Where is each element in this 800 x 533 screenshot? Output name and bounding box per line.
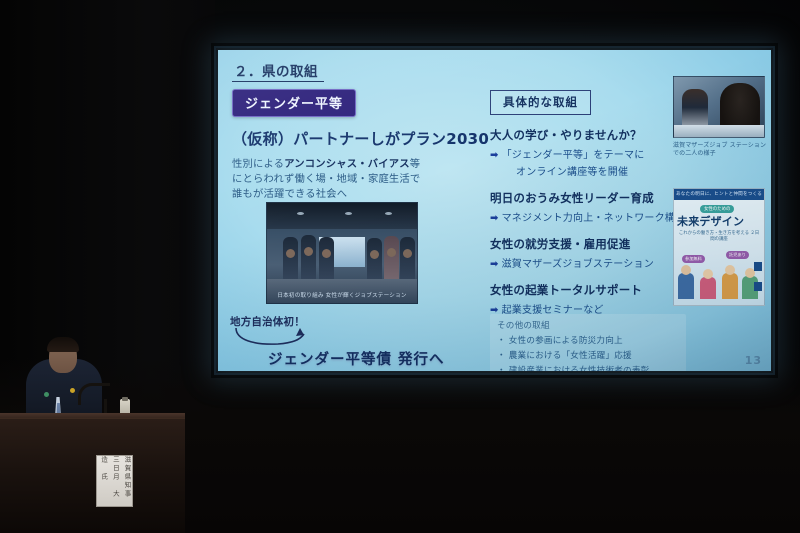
photo-ceiling-light [297,212,304,215]
photo-person-head [387,248,396,257]
measure-title: 大人の学び・やりませんか？ [490,127,690,143]
plan-desc-line-2: にとらわれず働く場・地域・家庭生活で [232,172,484,187]
auditorium-stage: ２．県の取組 ジェンダー平等 （仮称）パートナーしがプラン2030 性別によるア… [0,0,800,533]
right-photo-caption: 滋賀マザーズジョブ ステーションでの二人の様子 [673,142,769,158]
measure-detail-text: 「ジェンダー平等」をテーマに [502,150,645,161]
poster-side-bar [754,262,762,271]
measure-item: 明日のおうみ女性リーダー育成 ➡マネジメント力向上・ネットワーク構築 [490,190,690,224]
measure-title: 女性の就労支援・雇用促進 [490,236,690,252]
measure-item: 女性の起業トータルサポート ➡起業支援セミナーなど [490,282,690,316]
arrow-icon: ➡ [490,259,499,270]
photo-person [319,237,334,281]
poster-chip: 託児あり [726,251,749,259]
other-measure-item: ・ 建設産業における女性技術者の表彰 [497,364,679,371]
measures-heading: 具体的な取組 [490,90,591,115]
measure-title: 明日のおうみ女性リーダー育成 [490,190,690,206]
poster-figure [722,273,738,299]
curved-arrow-icon [234,326,320,348]
mirai-design-poster: あなたの明日に、ヒントと仲間をつくるセミナー 女性のための 未来デザイン これか… [673,188,765,306]
poster-figure-head [681,265,691,275]
poster-figure [700,277,716,299]
group-photo: 日本初の取り組み 女性が輝くジョブステーション [266,202,418,304]
poster-figure-head [703,269,713,279]
photo-person-head [286,249,295,258]
photo-person-head [403,249,412,258]
photo-counter [674,125,764,137]
measure-detail: ➡滋賀マザーズジョブステーション [490,255,690,270]
podium [0,418,185,533]
other-measures-box: その他の取組 ・ 女性の参画による防災力向上 ・ 農業における「女性活躍」応援 … [490,314,686,371]
poster-title: 未来デザイン [677,213,761,229]
lapel-pin-icon [70,388,75,393]
nameplate-text: 滋賀県知事 三日月 大造 氏 [97,456,132,506]
presentation-slide: ２．県の取組 ジェンダー平等 （仮称）パートナーしがプラン2030 性別によるア… [218,50,771,371]
slide-page-number: 13 [745,354,762,367]
measure-detail: ➡「ジェンダー平等」をテーマに [490,146,690,161]
arrow-icon: ➡ [490,213,499,224]
photo-person [301,235,316,281]
measure-item: 大人の学び・やりませんか？ ➡「ジェンダー平等」をテーマに オンライン講座等を開… [490,127,690,178]
arrow-icon: ➡ [490,150,499,161]
photo-person-head [370,250,379,259]
photo-caption: 日本初の取り組み 女性が輝くジョブステーション [273,293,411,300]
measure-title: 女性の起業トータルサポート [490,282,690,298]
section-title: ２．県の取組 [232,60,324,82]
photo-person [400,237,415,281]
plan-desc-line-1: 性別によるアンコンシャス・バイアス等 [232,157,484,172]
poster-badge: 女性のための [700,205,734,213]
plan-desc-line-3: 誰もが活躍できる社会へ [232,187,484,202]
mothers-job-station-photo [673,76,765,138]
plan-description: 性別によるアンコンシャス・バイアス等 にとらわれず働く場・地域・家庭生活で 誰も… [232,157,484,202]
poster-figure [678,273,694,299]
photo-person [283,237,298,281]
slide-measures-column: 具体的な取組 大人の学び・やりませんか？ ➡「ジェンダー平等」をテーマに オンラ… [490,90,690,316]
other-measure-item: ・ 農業における「女性活躍」応援 [497,349,679,361]
measure-detail: ➡マネジメント力向上・ネットワーク構築 [490,209,690,224]
poster-chip: 参加無料 [682,255,705,263]
photo-ceiling-light [345,212,352,215]
photo-person [384,236,399,281]
speaker-hair [47,337,79,352]
photo-ceiling [267,203,417,229]
other-measure-item: ・ 女性の参画による防災力向上 [497,334,679,346]
other-measures-heading: その他の取組 [497,319,679,331]
photo-person-head [322,249,331,258]
topic-tag-badge: ジェンダー平等 [232,89,356,117]
poster-side-bar [754,282,762,291]
poster-figure-head [725,265,735,275]
projection-screen: ２．県の取組 ジェンダー平等 （仮称）パートナーしがプラン2030 性別によるア… [218,50,771,371]
measure-item: 女性の就労支援・雇用促進 ➡滋賀マザーズジョブステーション [490,236,690,270]
measure-detail-text: マネジメント力向上・ネットワーク構築 [502,213,686,224]
poster-subtitle: これからの働き方・生き方を考える ２日間の講座 [678,231,760,243]
measure-detail-2: オンライン講座等を開催 [490,163,690,178]
water-bottle-cap [122,397,128,401]
slide-left-column: ２．県の取組 ジェンダー平等 （仮称）パートナーしがプラン2030 性別によるア… [232,60,484,202]
gender-equality-bond-line: ジェンダー平等債 発行へ [268,348,445,369]
plan-title: （仮称）パートナーしがプラン2030 [232,128,484,149]
lapel-ribbon-icon [44,392,49,397]
speaker-nameplate: 滋賀県知事 三日月 大造 氏 [96,455,133,507]
photo-person [367,238,382,281]
measure-detail-text: 滋賀マザーズジョブステーション [502,259,654,270]
photo-person-head [304,247,313,256]
photo-ceiling-light [385,212,392,215]
poster-band: あなたの明日に、ヒントと仲間をつくるセミナー [674,189,764,200]
